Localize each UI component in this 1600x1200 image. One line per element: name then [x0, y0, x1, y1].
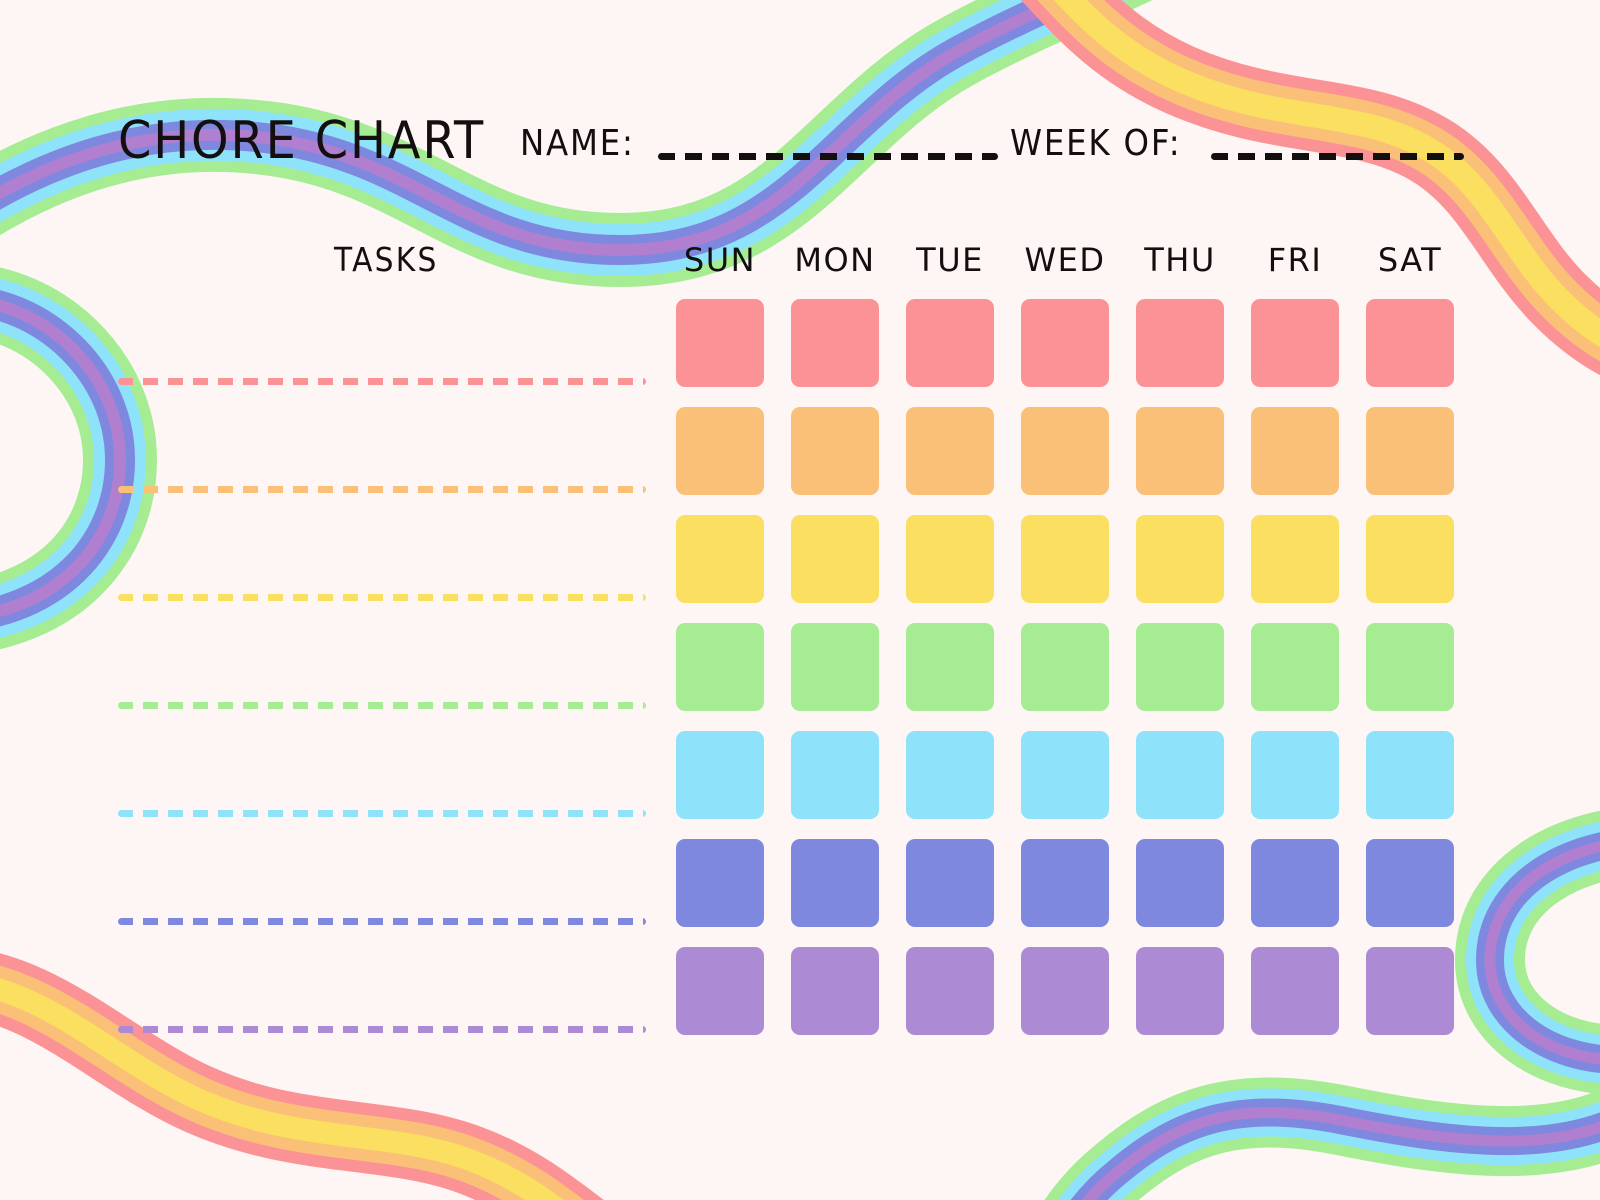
- task-input[interactable]: [118, 1026, 646, 1033]
- chore-cell[interactable]: [676, 515, 764, 603]
- task-input[interactable]: [118, 378, 646, 385]
- chore-cell[interactable]: [1251, 623, 1339, 711]
- chore-cell[interactable]: [1366, 623, 1454, 711]
- chore-cell[interactable]: [1021, 731, 1109, 819]
- chore-cell[interactable]: [1251, 515, 1339, 603]
- chore-cell[interactable]: [1021, 407, 1109, 495]
- chore-cell[interactable]: [1251, 839, 1339, 927]
- chore-cell[interactable]: [1021, 299, 1109, 387]
- chore-cell[interactable]: [1251, 407, 1339, 495]
- chore-cell[interactable]: [1021, 947, 1109, 1035]
- chore-cell[interactable]: [1251, 299, 1339, 387]
- chore-cell[interactable]: [1366, 947, 1454, 1035]
- chore-cell[interactable]: [1136, 731, 1224, 819]
- chore-cell[interactable]: [1366, 407, 1454, 495]
- chore-cell[interactable]: [676, 839, 764, 927]
- chore-cell[interactable]: [1136, 407, 1224, 495]
- task-input[interactable]: [118, 486, 646, 493]
- task-input[interactable]: [118, 594, 646, 601]
- chore-cell[interactable]: [1136, 623, 1224, 711]
- chore-cell[interactable]: [1021, 839, 1109, 927]
- task-input[interactable]: [118, 810, 646, 817]
- chore-cell[interactable]: [791, 623, 879, 711]
- chore-cell[interactable]: [906, 839, 994, 927]
- chore-cell[interactable]: [906, 299, 994, 387]
- chore-chart-page: CHORE CHART NAME: WEEK OF: TASKS SUNMONT…: [0, 0, 1600, 1200]
- chore-cell[interactable]: [791, 731, 879, 819]
- chore-cell[interactable]: [1251, 947, 1339, 1035]
- chore-cell[interactable]: [1366, 299, 1454, 387]
- chore-cell[interactable]: [1366, 515, 1454, 603]
- chore-cell[interactable]: [676, 299, 764, 387]
- chore-cell[interactable]: [1136, 515, 1224, 603]
- chore-cell[interactable]: [1251, 731, 1339, 819]
- chore-cell[interactable]: [791, 407, 879, 495]
- chore-cell[interactable]: [791, 299, 879, 387]
- task-input[interactable]: [118, 918, 646, 925]
- chore-grid: [0, 0, 1600, 1200]
- chore-cell[interactable]: [906, 407, 994, 495]
- chore-cell[interactable]: [906, 731, 994, 819]
- chore-cell[interactable]: [1366, 731, 1454, 819]
- chore-cell[interactable]: [676, 731, 764, 819]
- chore-cell[interactable]: [1136, 299, 1224, 387]
- chore-cell[interactable]: [906, 947, 994, 1035]
- chore-cell[interactable]: [676, 407, 764, 495]
- chore-cell[interactable]: [791, 947, 879, 1035]
- task-input[interactable]: [118, 702, 646, 709]
- chore-cell[interactable]: [676, 947, 764, 1035]
- chore-cell[interactable]: [1136, 947, 1224, 1035]
- chore-cell[interactable]: [1021, 623, 1109, 711]
- chore-cell[interactable]: [676, 623, 764, 711]
- chore-cell[interactable]: [906, 623, 994, 711]
- chore-cell[interactable]: [791, 839, 879, 927]
- chore-cell[interactable]: [1366, 839, 1454, 927]
- chore-cell[interactable]: [791, 515, 879, 603]
- chore-cell[interactable]: [1136, 839, 1224, 927]
- chore-cell[interactable]: [906, 515, 994, 603]
- chore-cell[interactable]: [1021, 515, 1109, 603]
